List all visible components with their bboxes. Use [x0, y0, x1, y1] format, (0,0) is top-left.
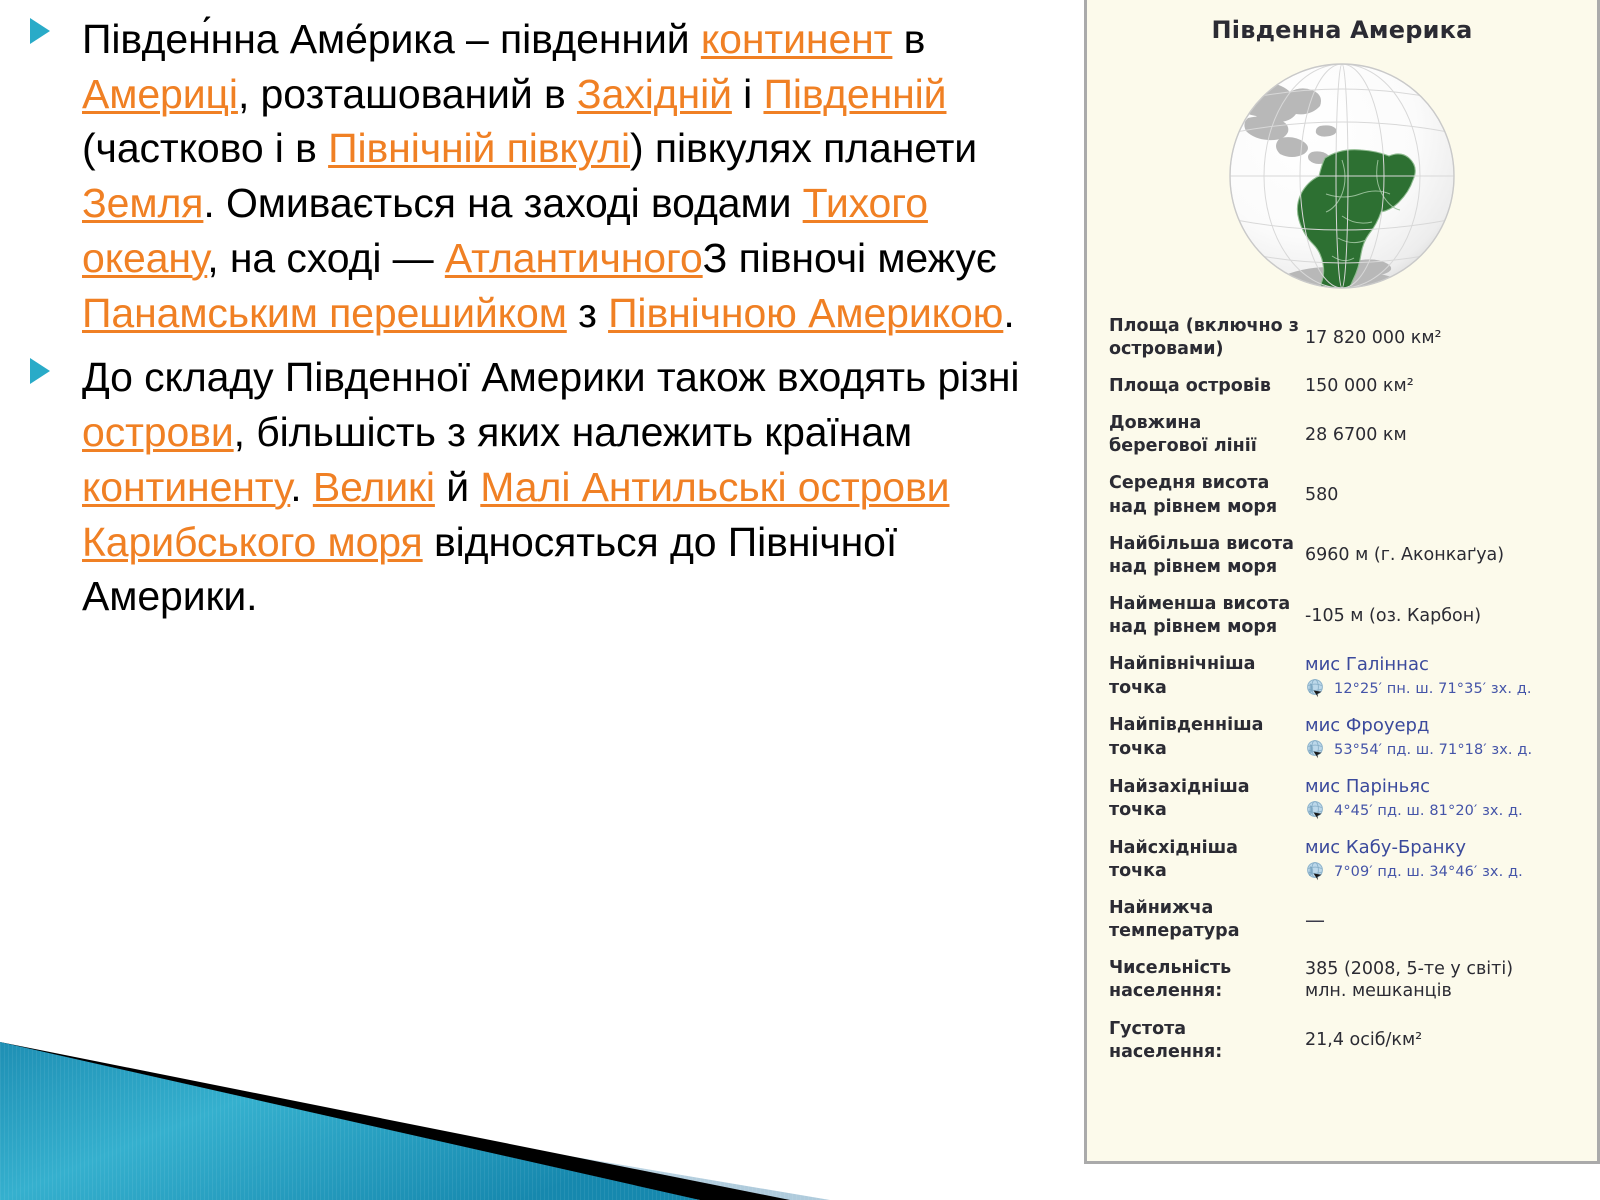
infobox-row-value: мис Фроуерд53°54′ пд. ш. 71°18′ зх. д.: [1305, 707, 1555, 768]
infobox-row-value: мис Паріньяс4°45′ пд. ш. 81°20′ зх. д.: [1305, 768, 1555, 829]
inline-text: рика – південний: [368, 16, 701, 62]
infobox-row: Найпівденніша точкамис Фроуерд53°54′ пд.…: [1109, 707, 1555, 768]
inline-text: .: [1003, 290, 1014, 336]
bullet-paragraph-1: Півден́нна Аме́рика – південний континен…: [0, 0, 1075, 340]
infobox-coordinates[interactable]: 53°54′ пд. ш. 71°18′ зх. д.: [1305, 739, 1551, 761]
infobox-row-label: Площа островів: [1109, 368, 1305, 405]
inline-link[interactable]: Атлантичного: [445, 235, 703, 281]
inline-text: (частково і в: [82, 125, 328, 171]
inline-text: Півден: [82, 16, 211, 62]
infobox-row: Площа (включно з островами)17 820 000 км…: [1109, 308, 1555, 368]
inline-text: , більшість з яких належить країнам: [234, 409, 912, 455]
inline-link[interactable]: Малі Антильські острови: [480, 464, 949, 510]
infobox-row: Найнижча температура—: [1109, 890, 1555, 950]
infobox-row: Чисельність населення:385 (2008, 5-те у …: [1109, 950, 1555, 1010]
inline-link[interactable]: Західній: [577, 71, 732, 117]
infobox-coordinates-text: 53°54′ пд. ш. 71°18′ зх. д.: [1334, 741, 1532, 760]
infobox-row: Довжина берегової лінії28 6700 км: [1109, 405, 1555, 465]
infobox-row-label: Найменша висота над рівнем моря: [1109, 586, 1305, 646]
inline-link[interactable]: Великі: [313, 464, 435, 510]
globe-south-america-icon: [1192, 56, 1492, 296]
inline-text: в: [892, 16, 925, 62]
infobox-row-label: Площа (включно з островами): [1109, 308, 1305, 368]
inline-link[interactable]: Південній: [763, 71, 946, 117]
infobox-row-value: —: [1305, 890, 1555, 950]
infobox-row-label: Довжина берегової лінії: [1109, 405, 1305, 465]
infobox-coordinates[interactable]: 12°25′ пн. ш. 71°35′ зх. д.: [1305, 678, 1551, 700]
inline-link[interactable]: Північній півкулі: [328, 125, 630, 171]
inline-text: , розташований в: [238, 71, 577, 117]
infobox-row: Найпівнічніша точкамис Галіннас12°25′ пн…: [1109, 646, 1555, 707]
infobox-globe-image: [1087, 50, 1597, 302]
triangle-bullet-icon: [30, 358, 50, 384]
inline-link[interactable]: Земля: [82, 180, 203, 226]
infobox-row-label: Густота населення:: [1109, 1011, 1305, 1071]
infobox-place-link[interactable]: мис Кабу-Бранку: [1305, 836, 1551, 859]
infobox-row-value: мис Кабу-Бранку7°09′ пд. ш. 34°46′ зх. д…: [1305, 829, 1555, 890]
infobox-place-link[interactable]: мис Паріньяс: [1305, 775, 1551, 798]
infobox-coordinates[interactable]: 4°45′ пд. ш. 81°20′ зх. д.: [1305, 800, 1551, 822]
infobox-coordinates-text: 12°25′ пн. ш. 71°35′ зх. д.: [1334, 680, 1532, 699]
infobox-row: Густота населення:21,4 осіб/км²: [1109, 1011, 1555, 1071]
infobox-coordinates-text: 7°09′ пд. ш. 34°46′ зх. д.: [1334, 863, 1523, 882]
infobox-row-value: -105 м (оз. Карбон): [1305, 586, 1555, 646]
inline-link[interactable]: Америці: [82, 71, 238, 117]
infobox-place-link[interactable]: мис Фроуерд: [1305, 714, 1551, 737]
infobox-row-label: Чисельність населення:: [1109, 950, 1305, 1010]
infobox-row-label: Середня висота над рівнем моря: [1109, 465, 1305, 525]
inline-text: До складу Південної Америки також входят…: [82, 354, 1019, 400]
infobox-coordinates[interactable]: 7°09′ пд. ш. 34°46′ зх. д.: [1305, 861, 1551, 883]
infobox-coordinates-text: 4°45′ пд. ш. 81°20′ зх. д.: [1334, 802, 1523, 821]
inline-link[interactable]: острови: [82, 409, 234, 455]
inline-text: й: [435, 464, 480, 510]
inline-link[interactable]: Карибського моря: [82, 519, 423, 565]
infobox-row-label: Найпівденніша точка: [1109, 707, 1305, 768]
inline-text: .: [290, 464, 313, 510]
inline-link[interactable]: континенту: [82, 464, 290, 510]
infobox-row-value: 21,4 осіб/км²: [1305, 1011, 1555, 1071]
wikipedia-infobox: Південна Америка: [1084, 0, 1600, 1164]
infobox-row: Найзахідніша точкамис Паріньяс4°45′ пд. …: [1109, 768, 1555, 829]
infobox-row-label: Найпівнічніша точка: [1109, 646, 1305, 707]
infobox-row-value: 28 6700 км: [1305, 405, 1555, 465]
infobox-row-label: Найбільша висота над рівнем моря: [1109, 526, 1305, 586]
infobox-row: Площа островів150 000 км²: [1109, 368, 1555, 405]
infobox-table: Площа (включно з островами)17 820 000 км…: [1109, 308, 1555, 1071]
infobox-row-value: мис Галіннас12°25′ пн. ш. 71°35′ зх. д.: [1305, 646, 1555, 707]
infobox-row-value: 385 (2008, 5-те у світі) млн. мешканців: [1305, 950, 1555, 1010]
triangle-bullet-icon: [30, 18, 50, 44]
infobox-row: Найбільша висота над рівнем моря6960 м (…: [1109, 526, 1555, 586]
infobox-title: Південна Америка: [1087, 0, 1597, 50]
globe-marker-icon: [1305, 678, 1327, 700]
inline-text: . Омивається на заході водами: [203, 180, 802, 226]
inline-link[interactable]: Панамським перешийком: [82, 290, 567, 336]
inline-text: З півночі межує: [703, 235, 997, 281]
globe-marker-icon: [1305, 800, 1327, 822]
infobox-row-value: 580: [1305, 465, 1555, 525]
bullet-text-1: Півден́нна Аме́рика – південний континен…: [82, 12, 1075, 340]
inline-text: , на сході —: [207, 235, 445, 281]
inline-text: з: [567, 290, 608, 336]
inline-text: і: [732, 71, 764, 117]
globe-marker-icon: [1305, 739, 1327, 761]
infobox-row-value: 17 820 000 км²: [1305, 308, 1555, 368]
infobox-row-label: Найнижча температура: [1109, 890, 1305, 950]
inline-text: нна Аме: [211, 16, 368, 62]
infobox-empty-value: —: [1305, 908, 1325, 932]
bullet-text-2: До складу Південної Америки також входят…: [82, 350, 1075, 624]
infobox-row-value: 150 000 км²: [1305, 368, 1555, 405]
inline-link[interactable]: континент: [701, 16, 893, 62]
bullet-paragraph-2: До складу Південної Америки також входят…: [0, 340, 1075, 624]
infobox-row-label: Найсхідніша точка: [1109, 829, 1305, 890]
inline-link[interactable]: Північною Америкою: [608, 290, 1003, 336]
infobox-row-value: 6960 м (г. Аконкаґуа): [1305, 526, 1555, 586]
infobox-row: Найсхідніша точкамис Кабу-Бранку7°09′ пд…: [1109, 829, 1555, 890]
slide-content-area: Півден́нна Аме́рика – південний континен…: [0, 0, 1075, 1200]
globe-marker-icon: [1305, 861, 1327, 883]
infobox-row-label: Найзахідніша точка: [1109, 768, 1305, 829]
infobox-row: Середня висота над рівнем моря580: [1109, 465, 1555, 525]
inline-text: ) півкулях планети: [630, 125, 977, 171]
infobox-row: Найменша висота над рівнем моря-105 м (о…: [1109, 586, 1555, 646]
infobox-place-link[interactable]: мис Галіннас: [1305, 653, 1551, 676]
